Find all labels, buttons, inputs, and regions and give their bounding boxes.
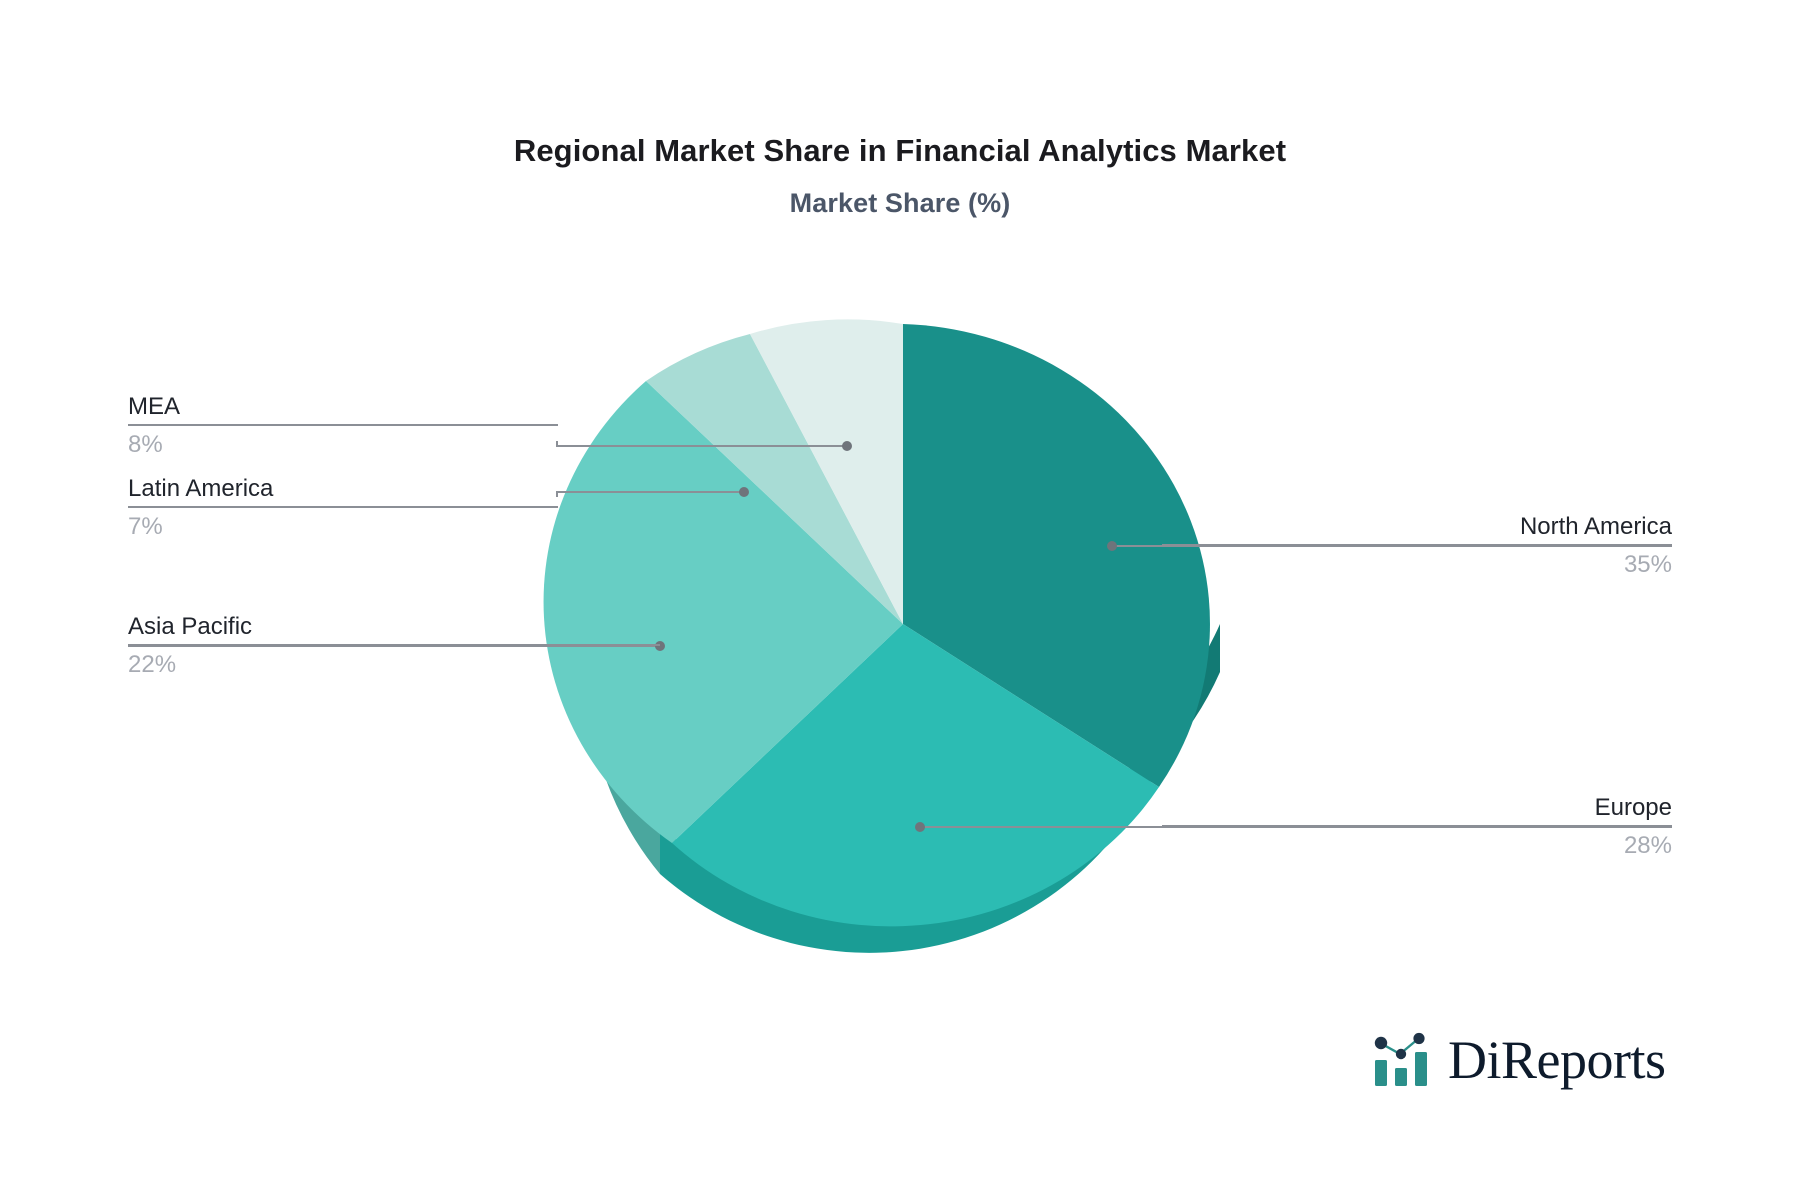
brand-logo: DiReports: [1372, 1032, 1666, 1088]
callout-europe[interactable]: Europe 28%: [1162, 793, 1672, 861]
callout-asia-pacific-label: Asia Pacific: [128, 612, 660, 642]
callout-latin-america-value: 7%: [128, 508, 558, 542]
callout-north-america-value: 35%: [1162, 546, 1672, 580]
pie-chart: [0, 0, 1800, 1196]
callout-europe-value: 28%: [1162, 827, 1672, 861]
callout-mea-value: 8%: [128, 426, 558, 460]
callout-latin-america[interactable]: Latin America 7%: [128, 474, 558, 542]
leader-dot-north-america: [1107, 541, 1117, 551]
leader-dot-mea: [842, 441, 852, 451]
callout-asia-pacific-value: 22%: [128, 646, 660, 680]
leader-dot-europe: [915, 822, 925, 832]
callout-mea[interactable]: MEA 8%: [128, 392, 558, 460]
callout-mea-label: MEA: [128, 392, 558, 422]
chart-canvas: Regional Market Share in Financial Analy…: [0, 0, 1800, 1196]
callout-north-america-label: North America: [1162, 512, 1672, 542]
bar-chart-icon: [1372, 1032, 1438, 1088]
pie-chart-svg: [0, 0, 1800, 1196]
leader-dot-latin-america: [739, 487, 749, 497]
callout-north-america[interactable]: North America 35%: [1162, 512, 1672, 580]
callout-europe-label: Europe: [1162, 793, 1672, 823]
callout-asia-pacific[interactable]: Asia Pacific 22%: [128, 612, 660, 680]
callout-latin-america-label: Latin America: [128, 474, 558, 504]
brand-name: DiReports: [1448, 1033, 1666, 1087]
